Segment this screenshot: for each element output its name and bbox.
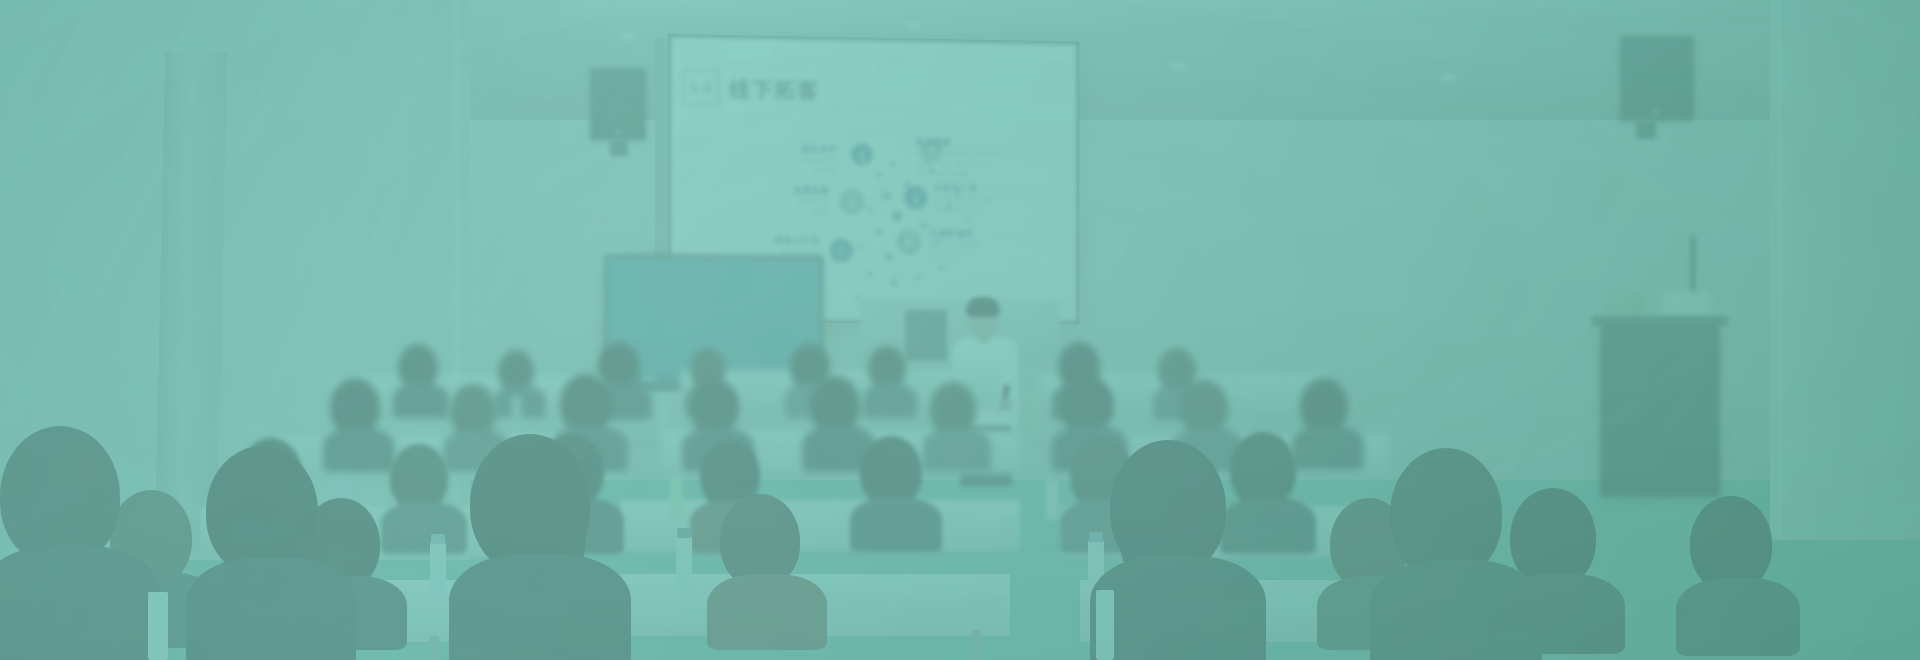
slide-dot <box>933 239 939 245</box>
desk-leg <box>972 630 981 660</box>
desk-leg <box>430 636 439 660</box>
slide-item-free-acquisition: 免费拓客 免费体验卡派发 到店转化 <box>719 184 830 217</box>
slide-marker-1: 1 <box>830 238 854 262</box>
slide-dot <box>955 190 961 196</box>
audience-person <box>1390 448 1522 660</box>
bottle-cap <box>431 534 445 544</box>
slide-dot <box>945 204 953 212</box>
audience-person <box>720 494 814 644</box>
slide-dot <box>920 221 928 229</box>
lcd-brand-label: INTERACTIVE PANEL <box>760 264 811 269</box>
classroom-photo: 1.0 线下拓客 OFFLINE CUSTOMER EXPANSION 团队合作… <box>0 0 1920 660</box>
slide-dot <box>900 235 906 241</box>
audience-person <box>0 426 140 660</box>
slide-dot <box>867 207 873 213</box>
slide-dot <box>904 182 910 188</box>
water-bottle <box>1030 394 1040 430</box>
audience-person <box>206 446 336 660</box>
audience-person <box>330 378 388 464</box>
ceiling-downlight <box>1170 62 1186 69</box>
ceiling-downlight <box>1440 74 1456 81</box>
presenter-hair <box>966 297 1000 317</box>
slide-dot <box>914 200 919 205</box>
water-bottle <box>1096 590 1114 660</box>
audience-person <box>930 382 984 466</box>
water-bottle <box>512 396 521 430</box>
slide-item-bus-advertising: 公交车广告 线下广告宣传，公交车身广告 性价比最高的宣传方式之一 <box>933 182 1076 215</box>
flag-pole <box>1690 236 1696 298</box>
ceiling-downlight <box>620 32 636 39</box>
slide-dot <box>910 249 915 254</box>
slide-item-large-area-coverage: 大面积铺设 借助机会，进入楼盘社区 覆盖特定客群 <box>929 227 1074 259</box>
slide-dot <box>882 191 891 200</box>
audience-person <box>868 346 912 410</box>
slide-dot <box>890 162 895 167</box>
water-bottle <box>660 400 669 430</box>
slide-dot <box>929 168 934 173</box>
slide-dot <box>867 270 874 277</box>
audience-person <box>398 344 444 410</box>
water-bottle <box>1046 480 1058 520</box>
slide-dot <box>890 279 898 287</box>
audience-person <box>470 434 610 660</box>
slide-item-team-cooperation: 团队合作 与地推团队合作拓 客引流到店 <box>731 142 838 175</box>
audience-person <box>390 444 458 544</box>
wall-speaker-left <box>590 68 646 140</box>
slide-dot <box>859 245 864 250</box>
audience-person <box>860 436 932 542</box>
bottle-cap <box>677 528 691 538</box>
speaker-mount-left <box>610 140 628 156</box>
audience-person <box>1110 440 1246 660</box>
water-bottle <box>148 592 168 660</box>
slide-marker-5: 5 <box>904 186 927 210</box>
audience-person <box>1690 496 1786 648</box>
slide-dot <box>875 171 882 178</box>
slide-dot <box>892 211 902 221</box>
slide-marker-6: 6 <box>896 229 921 255</box>
audience-area <box>0 330 1920 660</box>
slide-dot <box>966 216 971 221</box>
water-bottle <box>430 542 446 600</box>
audience-person <box>1300 378 1356 464</box>
speaker-mount-right <box>1636 121 1656 139</box>
slide-dot <box>916 275 922 281</box>
slide-item-cross-industry-alliance: 异业联盟 与周边商家免费体验卡互换、免费送到店活动 如美甲店、美发店、服装店、奶… <box>916 136 1071 179</box>
speaker-led-icon <box>616 130 620 134</box>
hero-banner: 1.0 线下拓客 OFFLINE CUSTOMER EXPANSION 团队合作… <box>0 0 1920 660</box>
slide-marker-2: 2 <box>839 189 865 215</box>
slide-dot <box>884 253 893 262</box>
water-bottle <box>676 536 692 598</box>
slide-dot <box>861 157 866 162</box>
speaker-led-icon <box>1654 110 1658 114</box>
water-bottle <box>670 476 682 520</box>
slide-dot <box>875 229 882 236</box>
ceiling-downlight <box>905 22 921 29</box>
bottle-cap <box>1089 532 1103 542</box>
slide-dot <box>939 265 944 270</box>
wall-speaker-right <box>1620 36 1694 121</box>
